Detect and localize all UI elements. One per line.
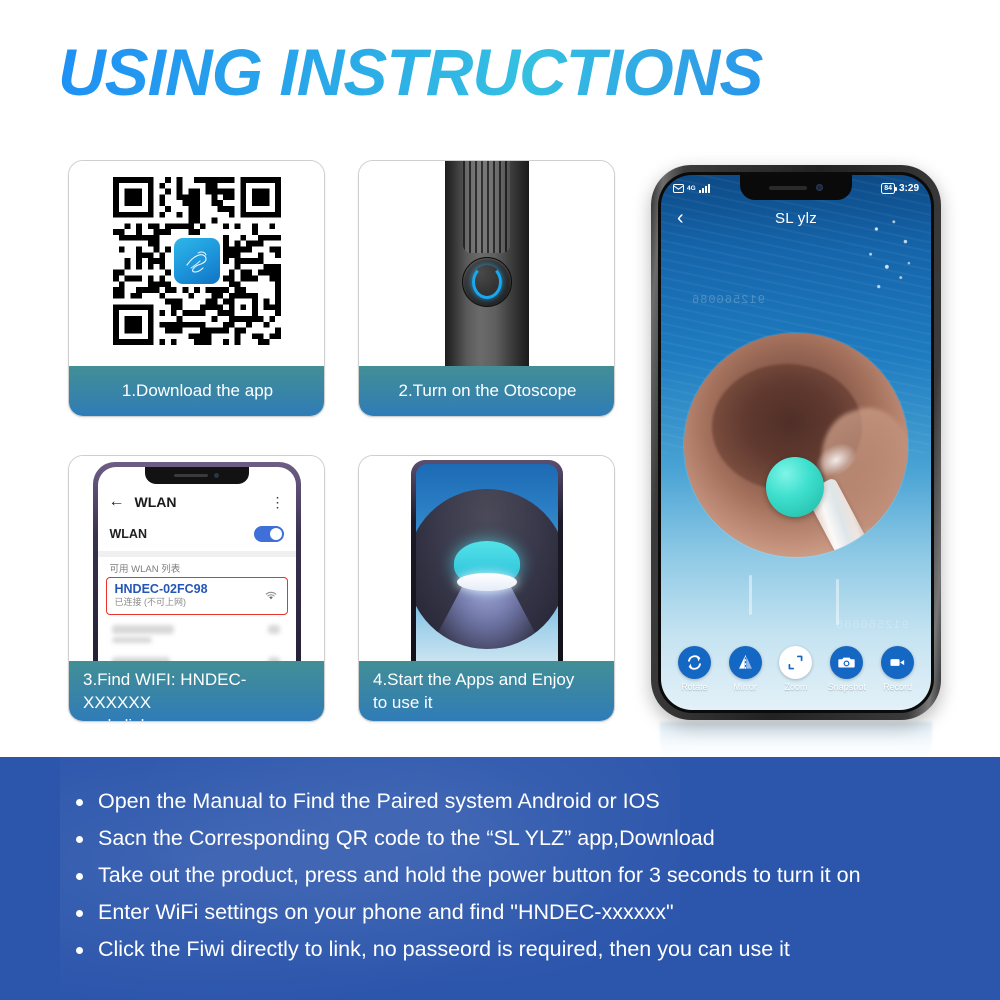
step-4-caption: 4.Start the Apps and Enjoy to use it: [359, 661, 614, 721]
wlan-section-label: 可用 WLAN 列表: [110, 561, 181, 575]
wifi-signal-icon: [264, 590, 278, 601]
phone-notch: [145, 467, 249, 484]
toolbar-button-mirror[interactable]: Mirror: [721, 646, 769, 692]
wlan-toggle-label: WLAN: [110, 527, 148, 541]
step-1-caption: 1.Download the app: [69, 366, 324, 416]
page-title: USING INSTRUCTIONS: [58, 36, 818, 108]
step-2-caption: 2.Turn on the Otoscope: [359, 366, 614, 416]
app-phone-mockup: [411, 460, 563, 666]
toolbar-button-snapshot[interactable]: Snapshot: [823, 646, 871, 692]
phone-bezel: 91256G086 91256G086 4G: [658, 172, 934, 713]
summary-panel: Open the Manual to Find the Paired syste…: [0, 757, 1000, 1000]
clock: 3:29: [899, 183, 919, 194]
step-card-start-app[interactable]: 4.Start the Apps and Enjoy to use it: [358, 455, 615, 722]
wifi-network-item-highlighted[interactable]: HNDEC-02FC98 已连接 (不可上网): [106, 577, 288, 615]
wlan-header: ← WLAN ⋮: [98, 487, 296, 517]
step-card-turn-on-otoscope[interactable]: 2.Turn on the Otoscope: [358, 160, 615, 417]
back-arrow-icon[interactable]: ←: [109, 494, 125, 510]
status-left: 4G: [673, 184, 710, 193]
video-icon: [881, 646, 914, 679]
overflow-menu-icon[interactable]: ⋮: [271, 497, 285, 507]
water-drip: [836, 579, 839, 625]
toolbar-button-zoom[interactable]: Zoom: [772, 646, 820, 692]
instruction-bullet: Take out the product, press and hold the…: [0, 857, 1000, 894]
section-divider: [98, 551, 296, 557]
watermark-right: 91256G086: [835, 618, 909, 632]
network-type-label: 4G: [687, 185, 696, 192]
camera-icon: [830, 646, 863, 679]
blurred-network-row: [112, 625, 174, 634]
battery-indicator: 84: [881, 183, 895, 194]
main-phone-mockup: 91256G086 91256G086 4G: [651, 165, 941, 720]
phone-screen: 91256G086 91256G086 4G: [661, 175, 931, 710]
wlan-screen: ← WLAN ⋮ WLAN 可用 WLAN 列表 HNDEC-02FC98 已连…: [98, 467, 296, 666]
power-glow-ring: [472, 265, 502, 299]
wlan-phone-mockup: ← WLAN ⋮ WLAN 可用 WLAN 列表 HNDEC-02FC98 已连…: [93, 462, 301, 666]
toolbar-label-zoom: Zoom: [784, 682, 807, 692]
app-camera-screen: [416, 464, 558, 666]
step-3-caption: 3.Find WIFI: HNDEC-XXXXXX and click: [69, 661, 324, 721]
app-logo-icon: [174, 238, 220, 284]
wlan-toggle-row[interactable]: WLAN: [98, 519, 296, 549]
wlan-screen-title: WLAN: [135, 494, 177, 510]
front-camera-icon: [214, 473, 219, 478]
scope-view-circle: [416, 489, 558, 649]
step-2-illustration: [359, 161, 614, 366]
ear-canal-camera-view: [684, 333, 908, 557]
step-4-caption-line1: 4.Start the Apps and Enjoy: [373, 670, 574, 689]
otoscope-probe-tip: [766, 457, 824, 517]
instruction-bullet: Enter WiFi settings on your phone and fi…: [0, 894, 1000, 931]
toolbar-button-rotate[interactable]: Rotate: [670, 646, 718, 692]
app-navbar: ‹ SL ylz: [661, 203, 931, 233]
rotate-icon: [678, 646, 711, 679]
step-3-caption-line1: 3.Find WIFI: HNDEC-XXXXXX: [83, 670, 246, 712]
toolbar-button-record[interactable]: Record: [874, 646, 922, 692]
step-4-illustration: [359, 456, 614, 666]
qr-code[interactable]: [113, 177, 281, 345]
step-card-download-app[interactable]: 1.Download the app: [68, 160, 325, 417]
mirror-icon: [729, 646, 762, 679]
wlan-toggle-switch[interactable]: [254, 526, 284, 542]
step-3-caption-line2: and click: [83, 716, 149, 722]
wifi-status: 已连接 (不可上网): [115, 596, 279, 608]
otoscope-device: [445, 161, 529, 366]
wifi-ssid: HNDEC-02FC98: [115, 582, 279, 596]
message-icon: [673, 184, 684, 193]
zoom-icon: [779, 646, 812, 679]
blurred-network-sub: [112, 637, 152, 643]
toggle-knob: [270, 528, 282, 540]
instruction-bullet-list: Open the Manual to Find the Paired syste…: [0, 757, 1000, 968]
blurred-network-icon: [268, 625, 280, 634]
water-drip: [749, 575, 752, 615]
step-3-illustration: ← WLAN ⋮ WLAN 可用 WLAN 列表 HNDEC-02FC98 已连…: [69, 456, 324, 666]
toolbar-label-record: Record: [883, 682, 912, 692]
device-grip-texture: [463, 161, 510, 253]
step-card-find-wifi[interactable]: ← WLAN ⋮ WLAN 可用 WLAN 列表 HNDEC-02FC98 已连…: [68, 455, 325, 722]
step-4-caption-line2: to use it: [373, 693, 433, 712]
toolbar-label-mirror: Mirror: [733, 682, 757, 692]
toolbar-label-snapshot: Snapshot: [828, 682, 866, 692]
app-title: SL ylz: [661, 210, 931, 227]
instructions-page: USING INSTRUCTIONS 1.Download the app: [0, 0, 1000, 1000]
status-bar: 4G 84 3:29: [661, 179, 931, 197]
status-right: 84 3:29: [881, 183, 919, 194]
earpiece-speaker: [174, 474, 208, 477]
instruction-bullet: Sacn the Corresponding QR code to the “S…: [0, 820, 1000, 857]
scope-highlight: [457, 573, 517, 591]
signal-bars-icon: [699, 184, 710, 193]
watermark-left: 91256G086: [691, 293, 765, 307]
toolbar-label-rotate: Rotate: [681, 682, 708, 692]
step-1-illustration: [69, 161, 324, 366]
camera-toolbar: Rotate Mirror: [661, 646, 931, 702]
instruction-bullet: Open the Manual to Find the Paired syste…: [0, 783, 1000, 820]
power-button-icon[interactable]: [462, 257, 512, 307]
instruction-bullet: Click the Fiwi directly to link, no pass…: [0, 931, 1000, 968]
back-chevron-icon[interactable]: ‹: [677, 208, 684, 228]
